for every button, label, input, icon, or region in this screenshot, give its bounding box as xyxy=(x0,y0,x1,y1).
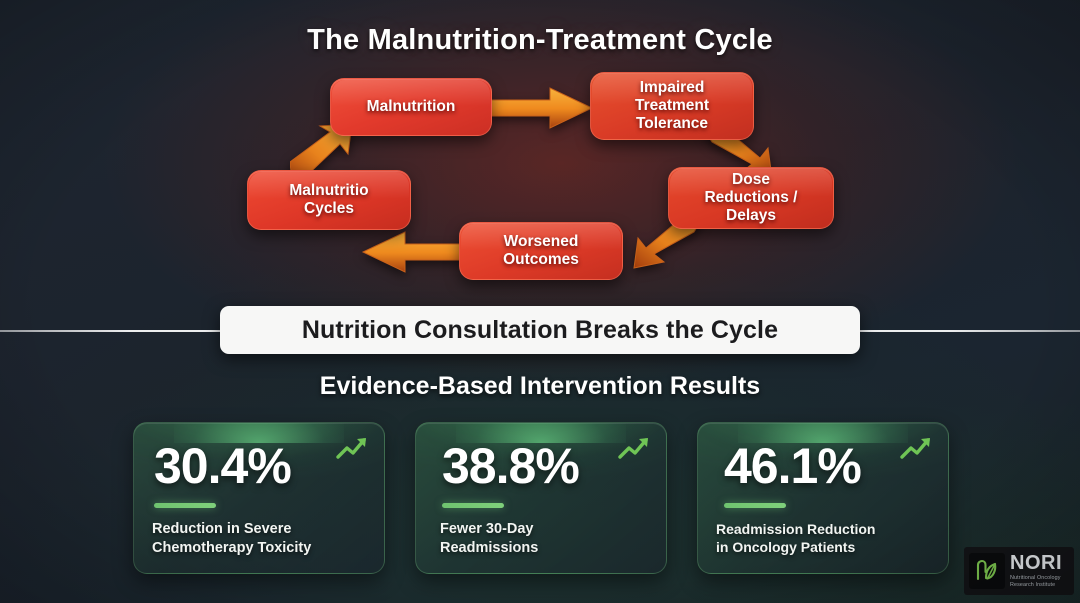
cycle-node-label: Impaired Treatment Tolerance xyxy=(635,79,709,133)
logo-mark xyxy=(969,553,1005,589)
leaf-icon xyxy=(974,558,1000,584)
stat-accent-rule xyxy=(724,503,786,508)
cycle-node-malnutrition[interactable]: Malnutrition xyxy=(330,78,492,136)
stat-accent-rule xyxy=(442,503,504,508)
cycle-node-label: Malnutrition xyxy=(367,98,456,116)
stat-accent-rule xyxy=(154,503,216,508)
stat-card-group: 30.4% Reduction in Severe Chemotherapy T… xyxy=(133,422,949,574)
cycle-node-label: Dose Reductions / Delays xyxy=(704,171,797,225)
arrow-malnutrition-to-impaired xyxy=(488,86,596,130)
cycle-node-malnutrition-cycles[interactable]: Malnutritio Cycles xyxy=(247,170,411,230)
stat-value: 46.1% xyxy=(724,441,930,491)
consultation-banner-text: Nutrition Consultation Breaks the Cycle xyxy=(302,316,778,345)
logo-tagline-line1: Nutritional Oncology xyxy=(1010,575,1062,582)
logo-wordmark: NORI xyxy=(1010,553,1062,573)
stat-label: Readmission Reduction in Oncology Patien… xyxy=(716,520,930,556)
arrow-worsened-to-cycles xyxy=(359,230,467,274)
stat-card-toxicity-reduction[interactable]: 30.4% Reduction in Severe Chemotherapy T… xyxy=(133,422,385,574)
malnutrition-cycle-diagram: Malnutrition Impaired Treatment Toleranc… xyxy=(0,62,1080,302)
results-section-heading: Evidence-Based Intervention Results xyxy=(0,372,1080,401)
cycle-node-worsened-outcomes[interactable]: Worsened Outcomes xyxy=(459,222,623,280)
stat-label: Reduction in Severe Chemotherapy Toxicit… xyxy=(152,520,366,558)
cycle-node-label: Malnutritio Cycles xyxy=(289,182,368,218)
consultation-banner: Nutrition Consultation Breaks the Cycle xyxy=(220,306,860,354)
cycle-node-dose-reductions-delays[interactable]: Dose Reductions / Delays xyxy=(668,167,834,229)
nori-logo: NORI Nutritional Oncology Research Insti… xyxy=(964,547,1074,595)
infographic-canvas: The Malnutrition-Treatment Cycle xyxy=(0,0,1080,603)
cycle-node-label: Worsened Outcomes xyxy=(503,233,579,269)
stat-card-oncology-readmission-reduction[interactable]: 46.1% Readmission Reduction in Oncology … xyxy=(697,422,949,574)
logo-text: NORI Nutritional Oncology Research Insti… xyxy=(1010,553,1062,589)
logo-tagline-line2: Research Institute xyxy=(1010,582,1062,589)
stat-value: 30.4% xyxy=(154,441,366,491)
stat-label: Fewer 30-Day Readmissions xyxy=(440,520,648,558)
page-title: The Malnutrition-Treatment Cycle xyxy=(0,24,1080,57)
cycle-node-impaired-treatment-tolerance[interactable]: Impaired Treatment Tolerance xyxy=(590,72,754,140)
stat-value: 38.8% xyxy=(442,441,648,491)
stat-card-readmissions-reduction[interactable]: 38.8% Fewer 30-Day Readmissions xyxy=(415,422,667,574)
